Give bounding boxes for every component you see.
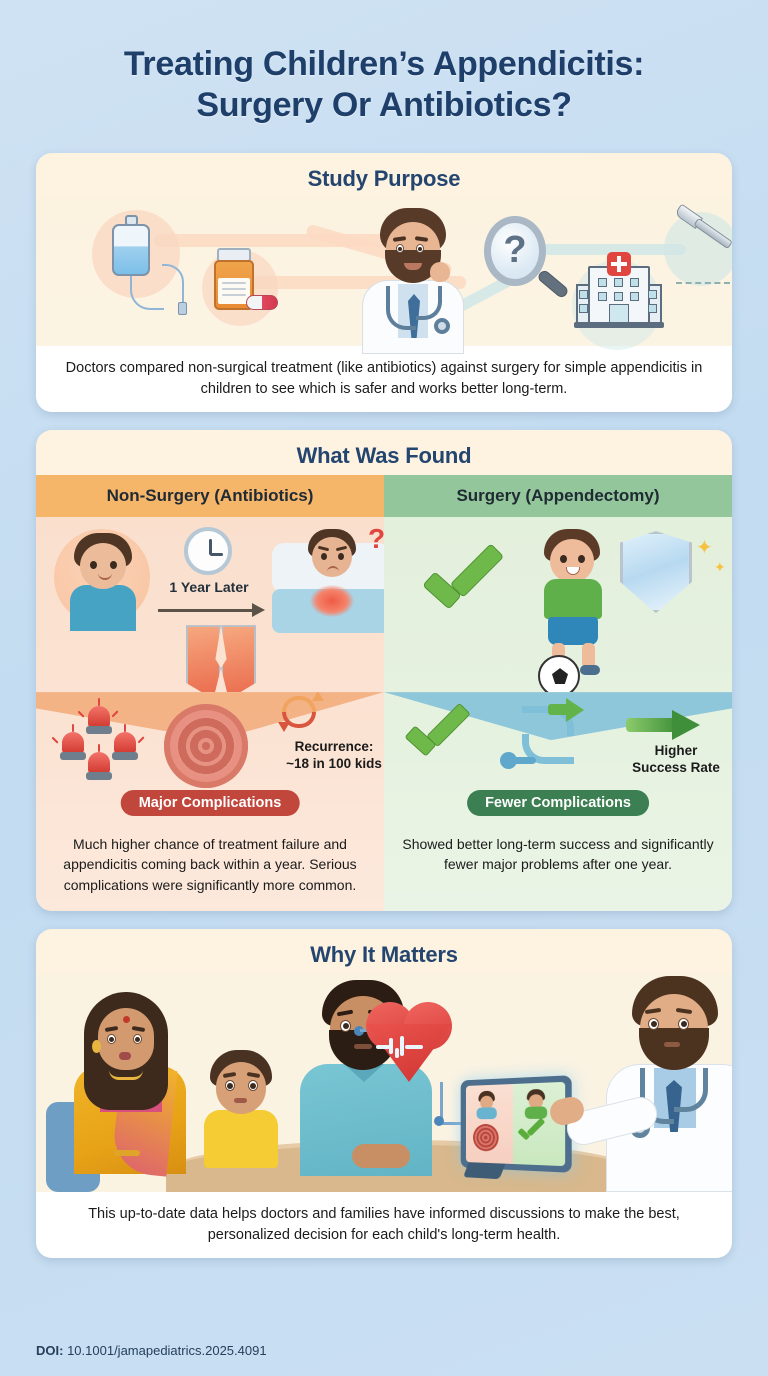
study-purpose-caption: Doctors compared non-surgical treatment …: [36, 346, 732, 412]
comparison-column-headers: Non-Surgery (Antibiotics) Surgery (Appen…: [36, 475, 732, 517]
broken-shield-icon: [186, 625, 256, 692]
doi-footer: DOI: 10.1001/jamapediatrics.2025.4091: [36, 1343, 267, 1358]
tangled-knot-icon: [164, 704, 248, 788]
mother-icon: [62, 992, 202, 1172]
green-arrow-icon: [626, 710, 702, 740]
recurrence-stat-line-2: ~18 in 100 kids: [268, 755, 384, 772]
sparkle-icon: ✦: [714, 559, 726, 576]
hospital-icon: [576, 256, 662, 328]
green-check-icon: [406, 714, 468, 760]
surgery-summary-text: Showed better long-term success and sign…: [384, 822, 732, 891]
study-purpose-heading: Study Purpose: [36, 153, 732, 198]
what-was-found-card: What Was Found Non-Surgery (Antibiotics)…: [36, 430, 732, 911]
capsule-icon: [246, 295, 278, 310]
question-mark-icon: ?: [368, 523, 384, 555]
non-surgery-summary-text: Much higher chance of treatment failure …: [36, 822, 384, 911]
column-header-non-surgery: Non-Surgery (Antibiotics): [36, 475, 384, 517]
child-icon: [194, 1050, 290, 1174]
sick-child-in-bed-icon: ?: [272, 527, 384, 633]
clock-icon: [184, 527, 232, 575]
success-rate-label: Higher Success Rate: [620, 742, 732, 777]
why-it-matters-heading: Why It Matters: [36, 929, 732, 974]
intact-shield-icon: [620, 531, 692, 613]
why-it-matters-caption: This up-to-date data helps doctors and f…: [36, 1192, 732, 1258]
recurrence-stat: Recurrence: ~18 in 100 kids: [268, 738, 384, 773]
surgery-stats-illustration: Higher Success Rate Fewer Complications: [384, 692, 732, 822]
study-purpose-illustration: ?: [36, 198, 732, 346]
soccer-ball-icon: [538, 655, 580, 692]
page-title-line-2: Surgery Or Antibiotics?: [36, 85, 732, 126]
connector-dot: [434, 1116, 444, 1126]
success-rate-line-1: Higher: [620, 742, 732, 759]
arrow-right-icon: [158, 609, 254, 612]
fewer-complications-badge: Fewer Complications: [467, 790, 649, 816]
doi-label: DOI:: [36, 1343, 63, 1358]
non-surgery-illustration: 1 Year Later ?: [36, 517, 384, 692]
s-path-arrow-icon: [508, 706, 604, 776]
sparkle-icon: ✦: [696, 535, 713, 560]
page-title-line-1: Treating Children’s Appendicitis:: [36, 44, 732, 85]
non-surgery-stats-illustration: Recurrence: ~18 in 100 kids Major Compli…: [36, 692, 384, 822]
why-it-matters-illustration: [36, 974, 732, 1192]
success-rate-line-2: Success Rate: [620, 759, 732, 776]
one-year-later-label: 1 Year Later: [148, 579, 270, 595]
surgery-column: ✦ ✦ Higher Success Rate Fewer: [384, 517, 732, 911]
study-purpose-card: Study Purpose: [36, 153, 732, 412]
page-title: Treating Children’s Appendicitis: Surger…: [0, 0, 768, 127]
doi-value: 10.1001/jamapediatrics.2025.4091: [67, 1343, 266, 1358]
what-was-found-heading: What Was Found: [36, 430, 732, 475]
thinking-doctor-icon: [354, 206, 472, 346]
scalpel-dashed-line: [676, 282, 730, 284]
non-surgery-column: 1 Year Later ?: [36, 517, 384, 911]
heart-ecg-icon: [366, 1002, 452, 1082]
surgery-illustration: ✦ ✦: [384, 517, 732, 692]
major-complications-badge: Major Complications: [121, 790, 300, 816]
green-check-icon: [424, 557, 502, 615]
column-header-surgery: Surgery (Appendectomy): [384, 475, 732, 517]
recurrence-loop-icon: [280, 696, 324, 736]
child-playing-soccer-icon: [524, 529, 620, 679]
doctor-pointing-icon: [584, 976, 732, 1192]
recurrence-stat-line-1: Recurrence:: [268, 738, 384, 755]
why-it-matters-card: Why It Matters: [36, 929, 732, 1258]
tablet-comparison-icon: [461, 1075, 572, 1173]
